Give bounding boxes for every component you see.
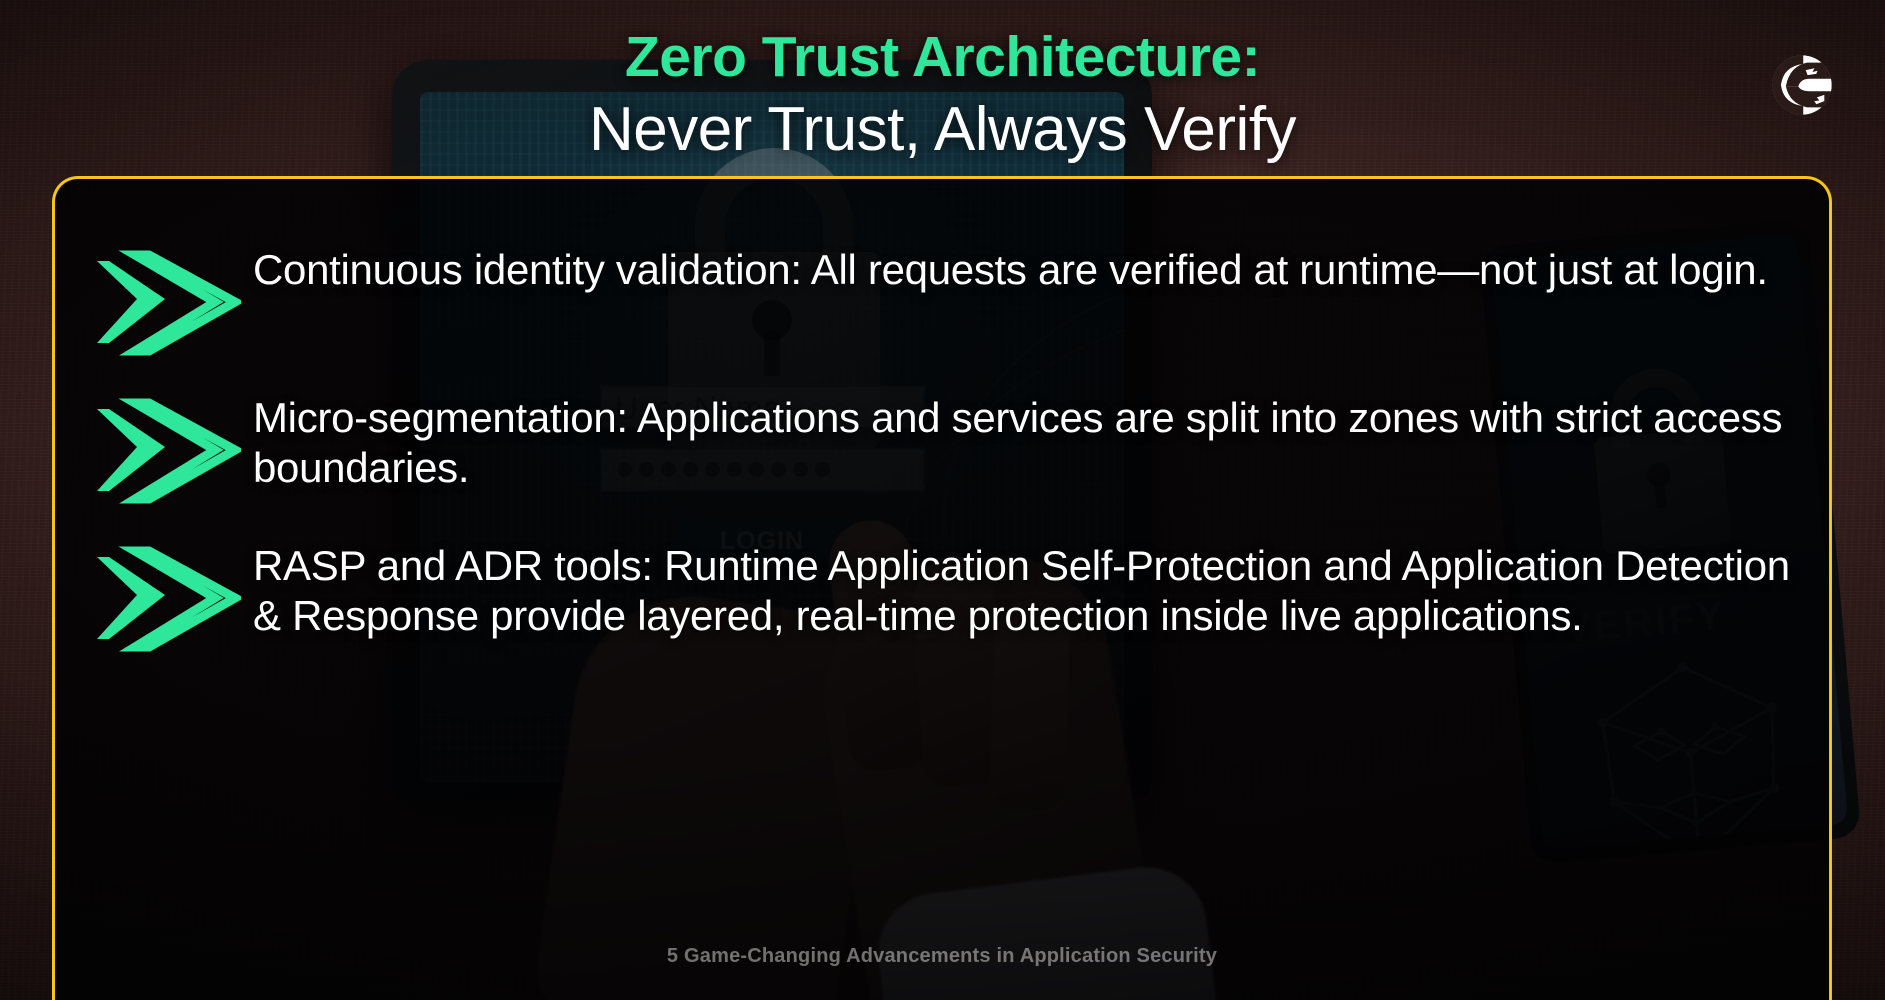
list-item: Micro-segmentation: Applications and ser… — [91, 389, 1799, 505]
infographic-canvas: User Name LOGIN VERIFY — [0, 0, 1885, 1000]
double-chevron-right-icon — [91, 247, 241, 357]
list-item-text: RASP and ADR tools: Runtime Application … — [253, 537, 1799, 641]
content-card: Continuous identity validation: All requ… — [52, 176, 1832, 1000]
double-chevron-right-icon — [91, 543, 241, 653]
list-item-text: Continuous identity validation: All requ… — [253, 241, 1799, 295]
footer-caption: 5 Game-Changing Advancements in Applicat… — [55, 945, 1829, 968]
double-chevron-right-icon — [91, 395, 241, 505]
page-title-sub: Never Trust, Always Verify — [0, 94, 1885, 165]
list-item-text: Micro-segmentation: Applications and ser… — [253, 389, 1799, 493]
list-item: RASP and ADR tools: Runtime Application … — [91, 537, 1799, 653]
brand-logo-icon[interactable] — [1771, 54, 1833, 116]
bullet-list: Continuous identity validation: All requ… — [91, 241, 1799, 685]
page-title-main: Zero Trust Architecture: — [0, 24, 1885, 90]
list-item: Continuous identity validation: All requ… — [91, 241, 1799, 357]
